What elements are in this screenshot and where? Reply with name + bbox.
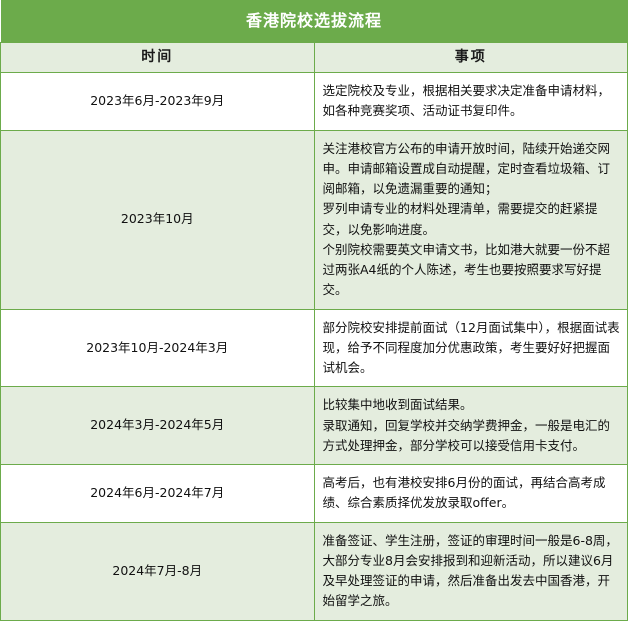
column-header-row: 时间 事项 (1, 43, 628, 73)
cell-detail: 选定院校及专业，根据相关要求决定准备申请材料，如各种竞赛奖项、活动证书复印件。 (314, 73, 628, 131)
table-row: 2024年7月-8月 准备签证、学生注册，签证的审理时间一般是6-8周，大部分专… (1, 522, 628, 620)
column-header-time: 时间 (1, 43, 315, 73)
table-body: 2023年6月-2023年9月 选定院校及专业，根据相关要求决定准备申请材料，如… (1, 73, 628, 621)
cell-detail: 准备签证、学生注册，签证的审理时间一般是6-8周，大部分专业8月会安排报到和迎新… (314, 522, 628, 620)
table-row: 2023年10月 关注港校官方公布的申请开放时间，陆续开始递交网申。申请邮箱设置… (1, 130, 628, 309)
table-row: 2024年6月-2024年7月 高考后，也有港校安排6月份的面试，再结合高考成绩… (1, 465, 628, 523)
cell-detail: 比较集中地收到面试结果。 录取通知，回复学校并交纳学费押金，一般是电汇的方式处理… (314, 387, 628, 465)
table-head: 香港院校选拔流程 时间 事项 (1, 0, 628, 73)
hk-admission-schedule-table: 香港院校选拔流程 时间 事项 2023年6月-2023年9月 选定院校及专业，根… (0, 0, 628, 621)
column-header-detail: 事项 (314, 43, 628, 73)
cell-time: 2023年10月-2024年3月 (1, 309, 315, 387)
table-row: 2023年10月-2024年3月 部分院校安排提前面试（12月面试集中），根据面… (1, 309, 628, 387)
cell-time: 2024年3月-2024年5月 (1, 387, 315, 465)
page-title: 香港院校选拔流程 (1, 0, 628, 43)
cell-time: 2023年6月-2023年9月 (1, 73, 315, 131)
cell-detail: 高考后，也有港校安排6月份的面试，再结合高考成绩、综合素质择优发放录取offer… (314, 465, 628, 523)
table-row: 2024年3月-2024年5月 比较集中地收到面试结果。 录取通知，回复学校并交… (1, 387, 628, 465)
cell-detail: 关注港校官方公布的申请开放时间，陆续开始递交网申。申请邮箱设置成自动提醒，定时查… (314, 130, 628, 309)
cell-time: 2024年6月-2024年7月 (1, 465, 315, 523)
cell-time: 2024年7月-8月 (1, 522, 315, 620)
table-row: 2023年6月-2023年9月 选定院校及专业，根据相关要求决定准备申请材料，如… (1, 73, 628, 131)
title-row: 香港院校选拔流程 (1, 0, 628, 43)
cell-detail: 部分院校安排提前面试（12月面试集中），根据面试表现，给予不同程度加分优惠政策，… (314, 309, 628, 387)
cell-time: 2023年10月 (1, 130, 315, 309)
